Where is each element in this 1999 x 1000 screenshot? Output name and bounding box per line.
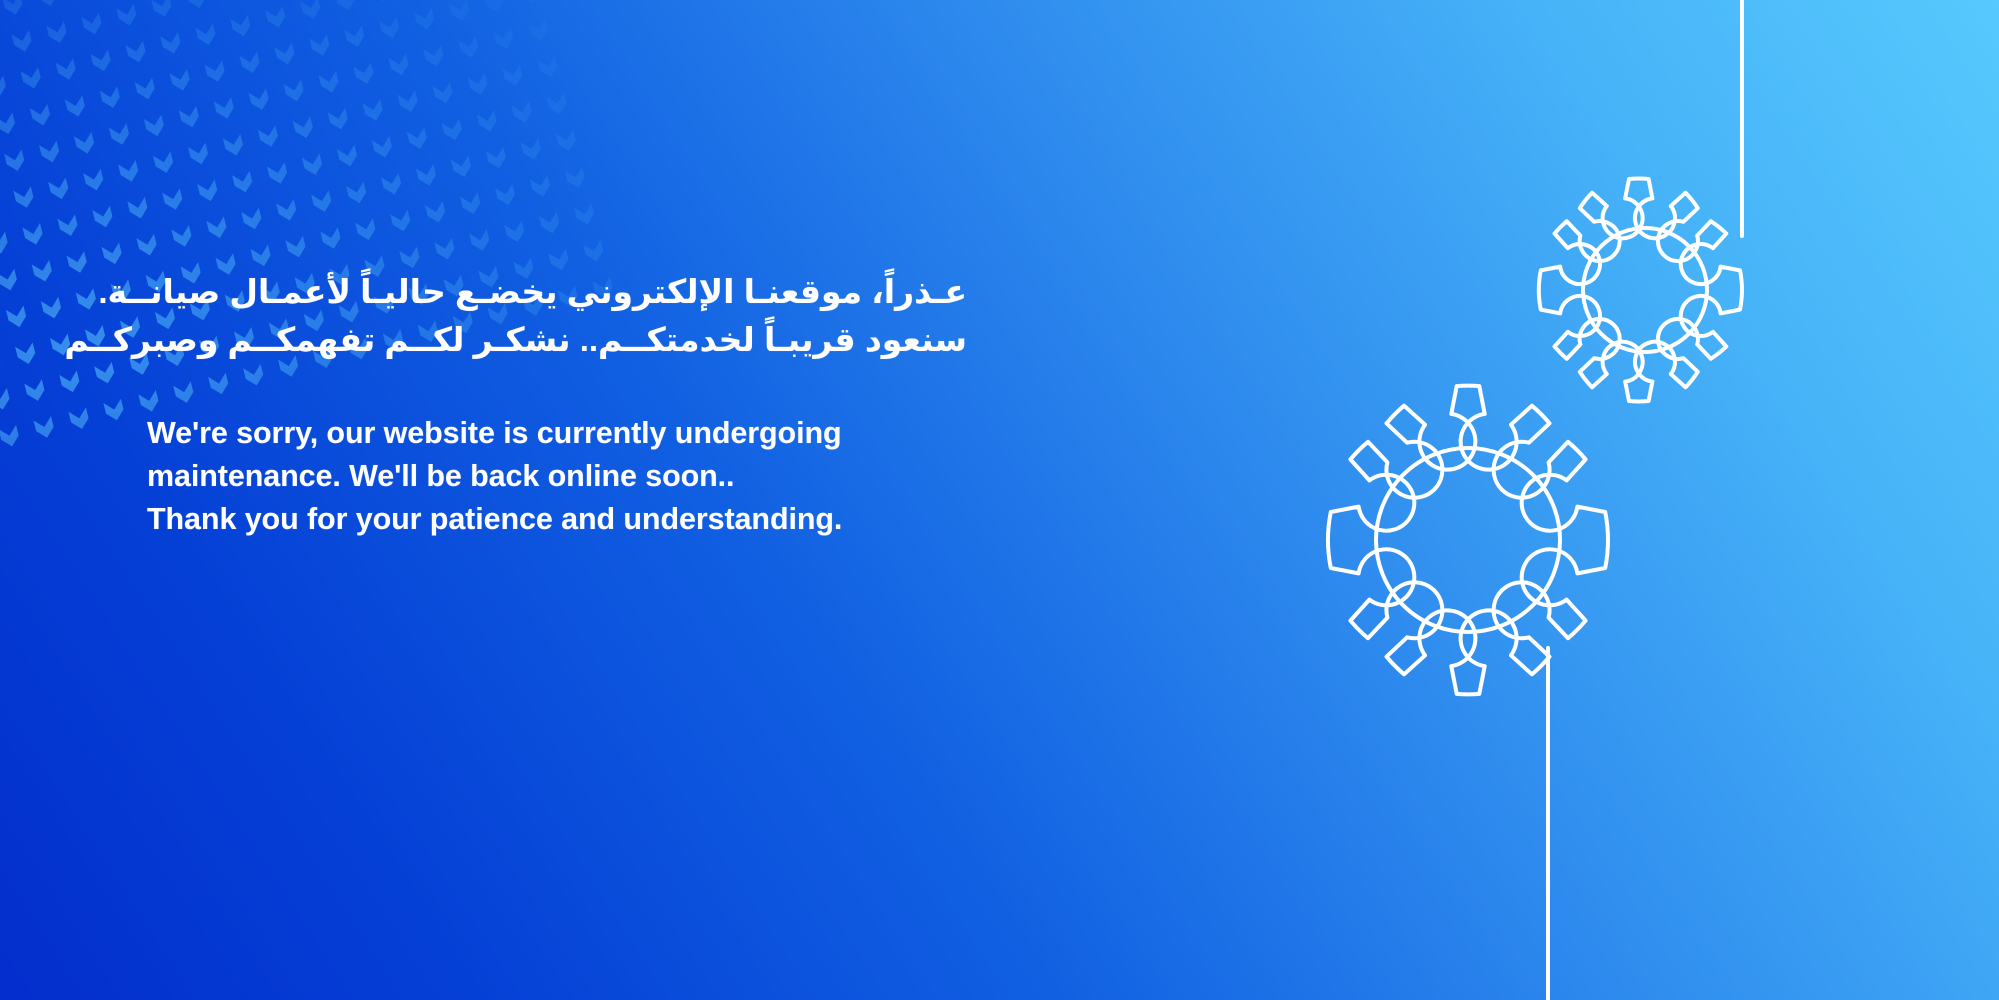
maintenance-message: عـذراً، موقعنـا الإلكتروني يخضـع حاليـاً… (147, 268, 967, 542)
large-gear-body (1328, 386, 1608, 695)
english-message-line-3: Thank you for your patience and understa… (147, 498, 967, 541)
small-gear-body (1539, 179, 1742, 402)
arabic-message-line-2: سنعود قريبـاً لخدمتكــم.. نشكـر لكــم تف… (147, 316, 967, 364)
english-message: We're sorry, our website is currently un… (147, 412, 967, 542)
maintenance-page: عـذراً، موقعنـا الإلكتروني يخضـع حاليـاً… (0, 0, 1999, 1000)
large-gear-inner-circle (1376, 448, 1560, 632)
arabic-message-line-1: عـذراً، موقعنـا الإلكتروني يخضـع حاليـاً… (147, 268, 967, 316)
small-gear-inner-circle (1583, 228, 1707, 352)
small-gear (1539, 179, 1742, 402)
large-gear (1328, 386, 1608, 695)
english-message-line-2: maintenance. We'll be back online soon.. (147, 455, 967, 498)
english-message-line-1: We're sorry, our website is currently un… (147, 412, 967, 455)
arabic-message: عـذراً، موقعنـا الإلكتروني يخضـع حاليـاً… (147, 268, 967, 364)
